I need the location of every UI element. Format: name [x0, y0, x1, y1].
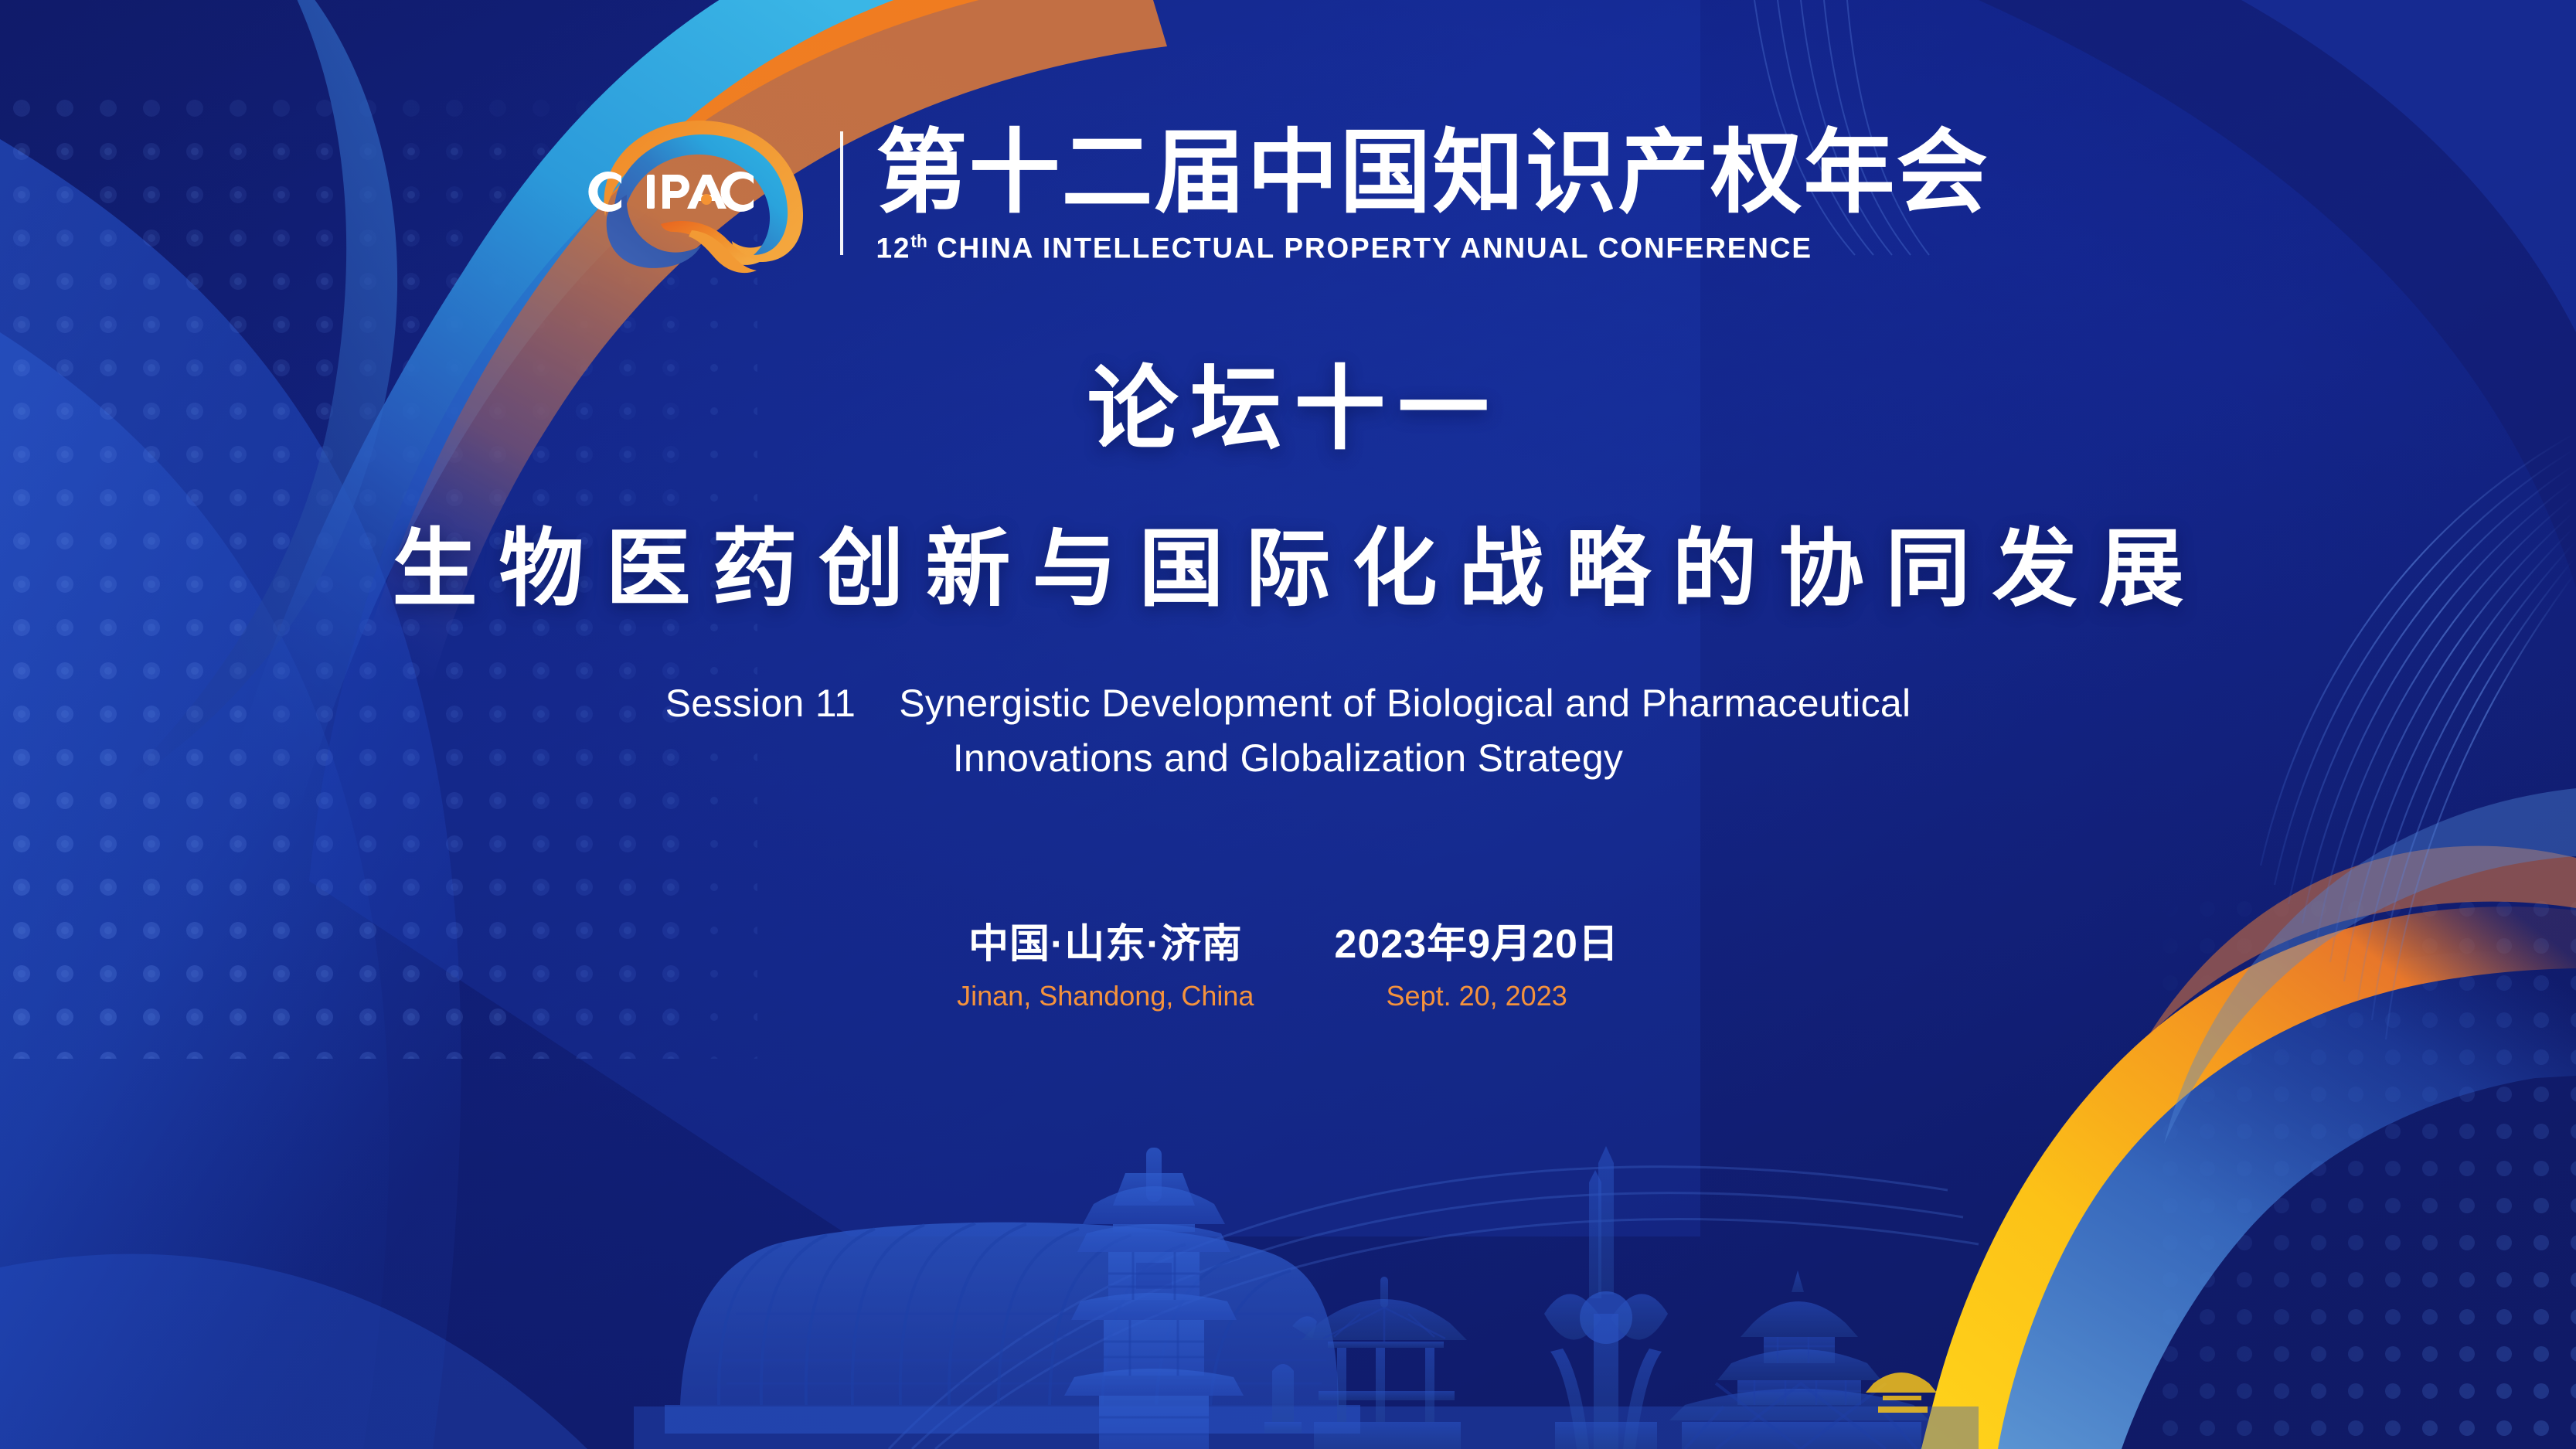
- forum-theme-en-line1: Session 11Synergistic Development of Bio…: [0, 676, 2576, 731]
- forum-theme-cn: 生物医药创新与国际化战略的协同发展: [0, 519, 2576, 620]
- conference-backdrop: 第十二届中国知识产权年会 12th CHINA INTELLECTUAL PRO…: [0, 0, 2576, 1449]
- forum-theme-en-line2: Innovations and Globalization Strategy: [0, 731, 2576, 786]
- conference-name-cn: 第十二届中国知识产权年会: [876, 124, 1989, 223]
- cipac-logo: [587, 108, 826, 278]
- event-location-cn: 中国·山东·济南: [968, 920, 1243, 970]
- conference-ordinal-suffix: th: [910, 231, 927, 251]
- conference-ordinal: 12: [876, 232, 910, 264]
- event-date-cn: 2023年9月20日: [1334, 920, 1618, 970]
- forum-theme-en-text1: Synergistic Development of Biological an…: [899, 682, 1911, 725]
- cipac-accent-dot: [701, 194, 712, 205]
- event-location: 中国·山东·济南 Jinan, Shandong, China: [957, 920, 1254, 1012]
- conference-name-en: 12th CHINA INTELLECTUAL PROPERTY ANNUAL …: [876, 233, 1812, 262]
- forum-number: 论坛十一: [0, 360, 2576, 461]
- event-date-en: Sept. 20, 2023: [1387, 979, 1567, 1012]
- masthead: 第十二届中国知识产权年会 12th CHINA INTELLECTUAL PRO…: [0, 108, 2576, 278]
- event-date: 2023年9月20日 Sept. 20, 2023: [1334, 920, 1618, 1012]
- session-label-en: Session 11: [665, 682, 856, 725]
- conference-name-en-text: CHINA INTELLECTUAL PROPERTY ANNUAL CONFE…: [937, 232, 1812, 264]
- cipac-wordmark: [589, 172, 754, 212]
- event-details: 中国·山东·济南 Jinan, Shandong, China 2023年9月2…: [0, 920, 2576, 1012]
- forum-theme-en: Session 11Synergistic Development of Bio…: [0, 676, 2576, 786]
- event-location-en: Jinan, Shandong, China: [957, 979, 1254, 1012]
- masthead-divider: [840, 131, 843, 255]
